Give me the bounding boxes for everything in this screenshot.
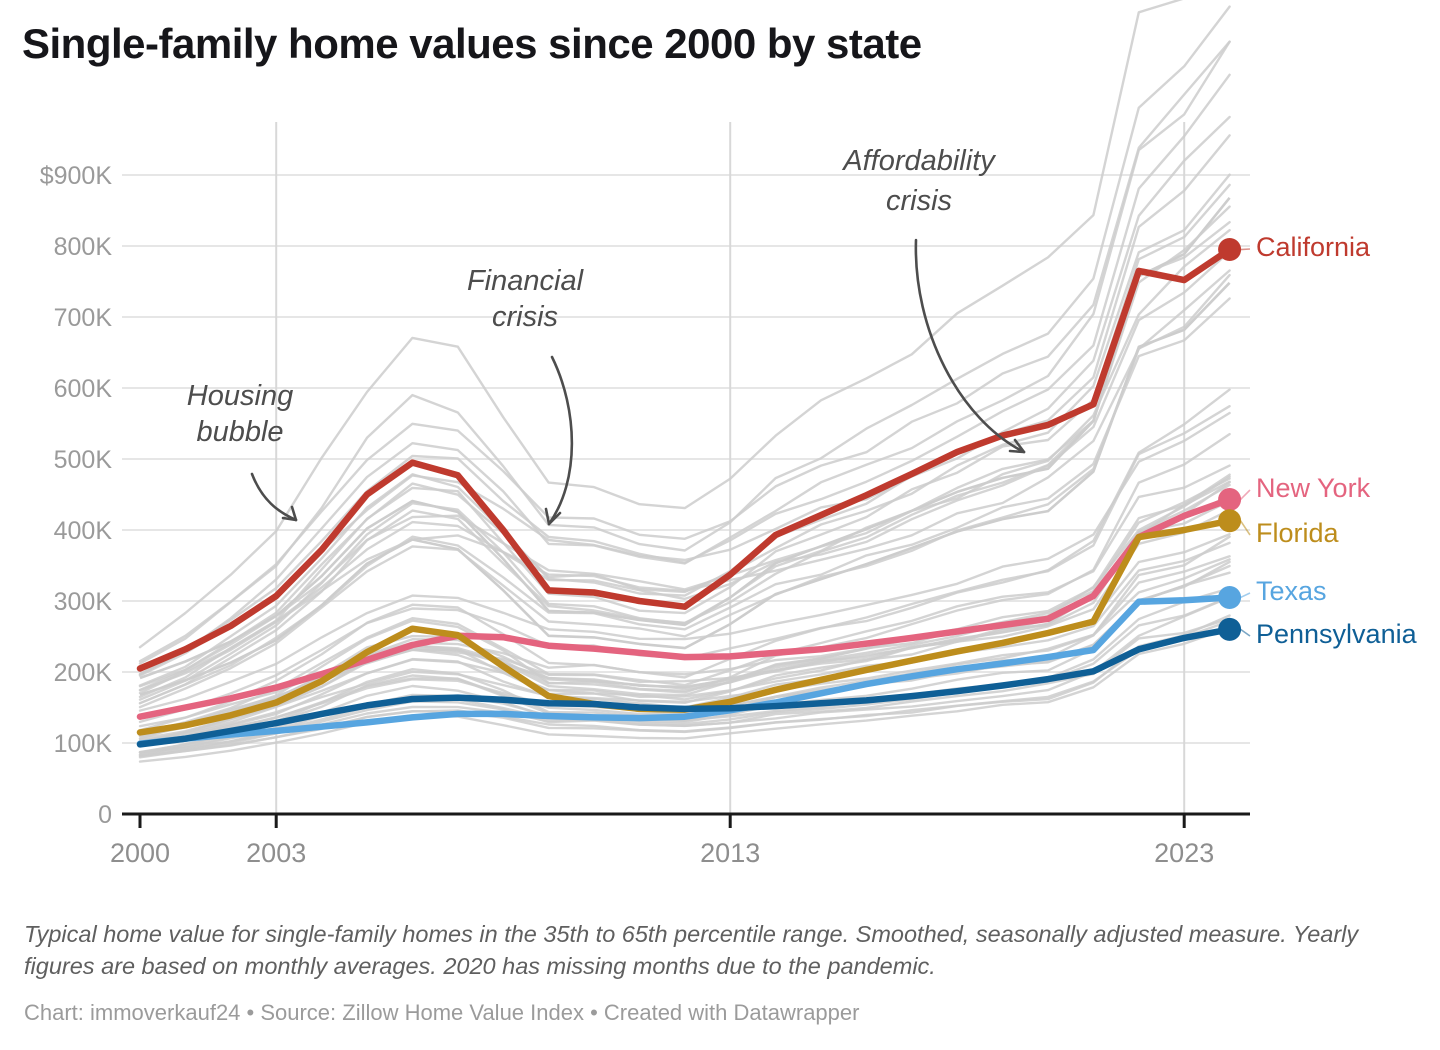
chart-page: Single-family home values since 2000 by … [0,0,1440,1050]
series-label-california[interactable]: California [1256,232,1371,262]
background-state-line [140,42,1230,675]
chart-footer: Typical home value for single-family hom… [24,918,1424,1026]
annotation-text-financial-crisis: crisis [492,301,558,333]
y-tick-label: 500K [54,446,113,474]
series-label-leader [1241,521,1250,535]
y-axis-tick-labels: 0100K200K300K400K500K600K700K800K$900K [40,162,113,829]
annotation-arrow-housing-bubble [252,474,296,520]
annotation-text-affordability-crisis: Affordability [841,145,996,177]
series-label-pennsylvania[interactable]: Pennsylvania [1256,619,1418,649]
line-chart-svg: CaliforniaNew YorkFloridaTexasPennsylvan… [0,0,1440,900]
series-label-leader [1241,593,1250,597]
series-label-florida[interactable]: Florida [1256,518,1340,548]
y-tick-label: 200K [54,659,113,687]
x-tick-label: 2023 [1154,838,1214,868]
y-tick-label: 0 [98,801,112,829]
annotation-text-affordability-crisis: crisis [886,185,952,217]
annotation-text-housing-bubble: Housing [187,380,293,412]
y-tick-label: 100K [54,730,113,758]
y-tick-label: 400K [54,517,113,545]
plot-area: CaliforniaNew YorkFloridaTexasPennsylvan… [0,0,1440,900]
y-tick-label: 600K [54,375,113,403]
y-tick-label: 700K [54,304,113,332]
series-label-new-york[interactable]: New York [1256,473,1371,503]
y-tick-label: $900K [40,162,113,190]
series-label-leader [1241,249,1250,250]
x-tick-label: 2013 [700,838,760,868]
endpoint-dot-pennsylvania[interactable] [1218,618,1241,641]
annotation-text-housing-bubble: bubble [196,416,283,448]
y-tick-label: 800K [54,233,113,261]
background-state-lines [140,0,1230,762]
endpoint-dot-florida[interactable] [1218,509,1241,532]
chart-description: Typical home value for single-family hom… [24,918,1404,982]
annotation-arrow-financial-crisis [549,357,572,524]
annotation-text-financial-crisis: Financial [467,265,585,297]
y-tick-label: 300K [54,588,113,616]
x-tick-label: 2003 [246,838,306,868]
endpoint-dot-new-york[interactable] [1218,488,1241,511]
series-label-leader [1241,629,1250,636]
x-axis-tick-labels: 2000200320132023 [110,838,1214,868]
series-labels[interactable]: CaliforniaNew YorkFloridaTexasPennsylvan… [1241,232,1418,649]
series-label-leader [1241,490,1250,499]
endpoint-dot-texas[interactable] [1218,586,1241,609]
annotation-arrow-affordability-crisis [916,240,1024,452]
x-axis [122,814,1250,828]
x-tick-label: 2000 [110,838,170,868]
endpoint-dot-california[interactable] [1218,238,1241,261]
chart-credit: Chart: immoverkauf24 • Source: Zillow Ho… [24,1000,1424,1026]
series-label-texas[interactable]: Texas [1256,576,1327,606]
